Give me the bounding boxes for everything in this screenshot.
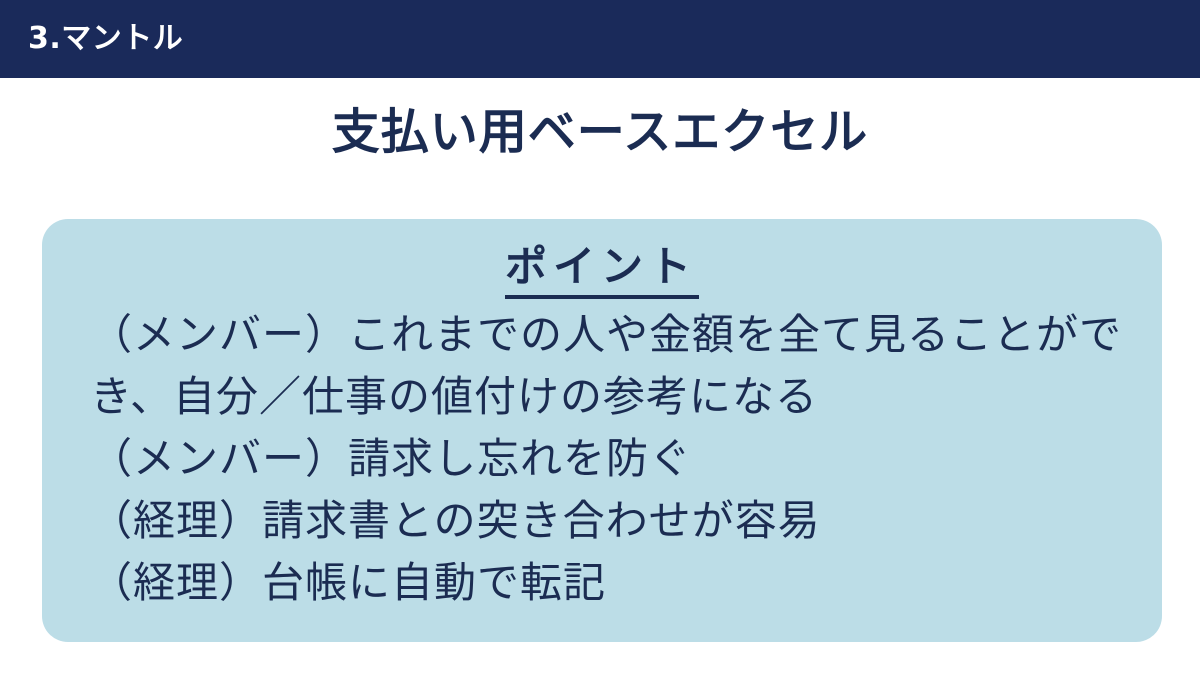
- points-list: （メンバー）これまでの人や金額を全て見ることができ、自分／仕事の値付けの参考にな…: [72, 304, 1132, 614]
- page-title: 支払い用ベースエクセル: [0, 104, 1200, 162]
- list-item: （メンバー）これまでの人や金額を全て見ることができ、自分／仕事の値付けの参考にな…: [90, 304, 1132, 428]
- points-panel-heading-text: ポイント: [505, 242, 699, 299]
- section-label: 3.マントル: [28, 24, 183, 54]
- points-panel: ポイント （メンバー）これまでの人や金額を全て見ることができ、自分／仕事の値付け…: [42, 219, 1162, 642]
- slide-header-band: 3.マントル: [0, 0, 1200, 78]
- list-item: （経理）台帳に自動で転記: [90, 552, 1132, 614]
- points-panel-heading: ポイント: [72, 241, 1132, 294]
- list-item: （メンバー）請求し忘れを防ぐ: [90, 428, 1132, 490]
- slide-root: 3.マントル 支払い用ベースエクセル ポイント （メンバー）これまでの人や金額を…: [0, 0, 1200, 675]
- list-item: （経理）請求書との突き合わせが容易: [90, 490, 1132, 552]
